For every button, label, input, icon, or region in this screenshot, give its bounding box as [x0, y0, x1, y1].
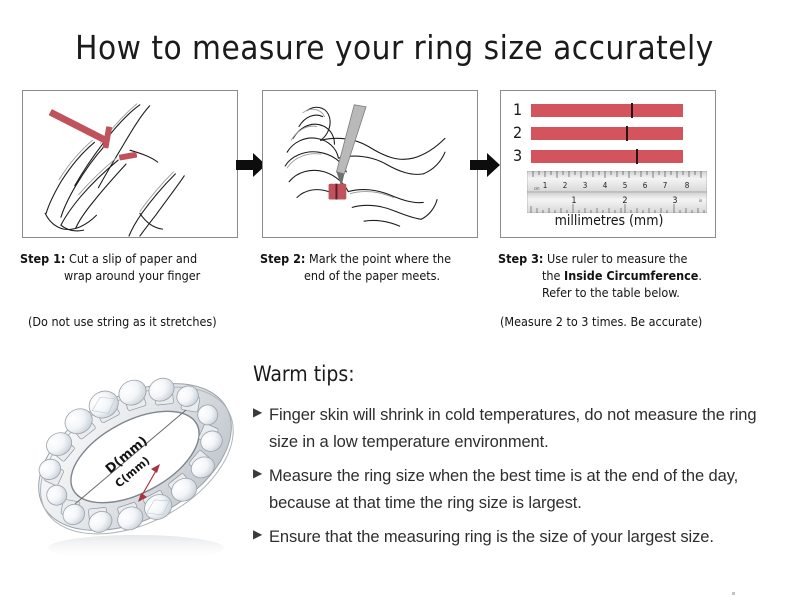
step-2-panel: [262, 90, 478, 238]
step-3-line-2-lead: the: [542, 268, 564, 283]
step-3-note: (Measure 2 to 3 times. Be accurate): [500, 314, 702, 329]
step-2-caption: Step 2: Mark the point where the end of …: [260, 250, 500, 284]
tip-text: Measure the ring size when the best time…: [269, 463, 773, 517]
step-2-line-1: Mark the point where the: [309, 251, 451, 266]
warm-tips-heading: Warm tips:: [253, 362, 773, 386]
paper-slip-shape: [49, 109, 138, 161]
inside-circumference-emphasis: Inside Circumference: [564, 268, 698, 283]
step-1-panel: [22, 90, 238, 238]
svg-text:1: 1: [543, 181, 548, 190]
svg-text:6: 6: [643, 181, 648, 190]
strip-bar: [531, 104, 683, 117]
svg-text:7: 7: [663, 181, 668, 190]
tip-item: ▶ Ensure that the measuring ring is the …: [253, 524, 773, 551]
step-2-label: Step 2:: [260, 251, 305, 266]
arrow-right-icon-2: [470, 152, 500, 178]
svg-text:3: 3: [672, 196, 677, 206]
strip-number: 1: [513, 102, 531, 118]
step-3-label: Step 3:: [498, 251, 543, 266]
strip-row: 3: [513, 147, 709, 165]
step-1-line-1: Cut a slip of paper and: [69, 251, 197, 266]
ruler-unit-caption: millimetres (mm): [501, 213, 716, 229]
step-1-line-2: wrap around your finger: [20, 267, 260, 284]
strip-mark-icon: [636, 149, 638, 164]
step-3-caption: Step 3: Use ruler to measure the the Ins…: [498, 250, 738, 301]
step-3-panel: 1 2 3: [500, 90, 716, 238]
warm-tips-section: Warm tips: ▶ Finger skin will shrink in …: [253, 362, 773, 558]
svg-text:cm: cm: [534, 186, 540, 191]
step-1-label: Step 1:: [20, 251, 65, 266]
step-3-line-3: Refer to the table below.: [498, 284, 738, 301]
svg-text:8: 8: [685, 181, 690, 190]
svg-text:5: 5: [623, 181, 628, 190]
strip-bar: [531, 127, 683, 140]
strip-mark-icon: [631, 103, 633, 118]
step-3-line-2-tail: .: [698, 268, 702, 283]
page-title: How to measure your ring size accurately: [0, 28, 789, 67]
step-1-note: (Do not use string as it stretches): [28, 314, 217, 329]
ruler-illustration: 1 2 3 4 5 6 7 8 cm 1 2 3 in: [527, 171, 707, 211]
pen-shape: [336, 105, 366, 187]
step-1-caption: Step 1: Cut a slip of paper and wrap aro…: [20, 250, 260, 284]
measured-paper-strips: 1 2 3: [513, 101, 709, 170]
ring-diagram: D(mm) C(mm): [18, 352, 252, 572]
strip-mark-icon: [626, 126, 628, 141]
step-3-line-1: Use ruler to measure the: [547, 251, 687, 266]
svg-text:3: 3: [583, 181, 588, 190]
bullet-triangle-icon: ▶: [253, 524, 269, 540]
hand-marking-paper-with-pen-illustration: [263, 91, 477, 237]
strip-number: 2: [513, 125, 531, 141]
strip-number: 3: [513, 148, 531, 164]
bullet-triangle-icon: ▶: [253, 463, 269, 479]
svg-text:4: 4: [603, 181, 608, 190]
corner-artifact-mark: [728, 592, 736, 598]
steps-row: 1 2 3: [0, 90, 789, 250]
tip-item: ▶ Measure the ring size when the best ti…: [253, 463, 773, 517]
strip-bar: [531, 150, 683, 163]
tip-text: Ensure that the measuring ring is the si…: [269, 524, 714, 551]
step-2-line-2: end of the paper meets.: [260, 267, 500, 284]
strip-row: 1: [513, 101, 709, 119]
bullet-triangle-icon: ▶: [253, 402, 269, 418]
tip-item: ▶ Finger skin will shrink in cold temper…: [253, 402, 773, 456]
svg-text:2: 2: [563, 181, 568, 190]
strip-row: 2: [513, 124, 709, 142]
hand-with-paper-slip-illustration: [23, 91, 237, 237]
paper-slip-on-finger-shape: [329, 184, 347, 200]
step-3-line-2: the Inside Circumference.: [498, 267, 738, 284]
svg-text:1: 1: [571, 196, 576, 206]
svg-text:in: in: [699, 198, 702, 203]
tip-text: Finger skin will shrink in cold temperat…: [269, 402, 773, 456]
